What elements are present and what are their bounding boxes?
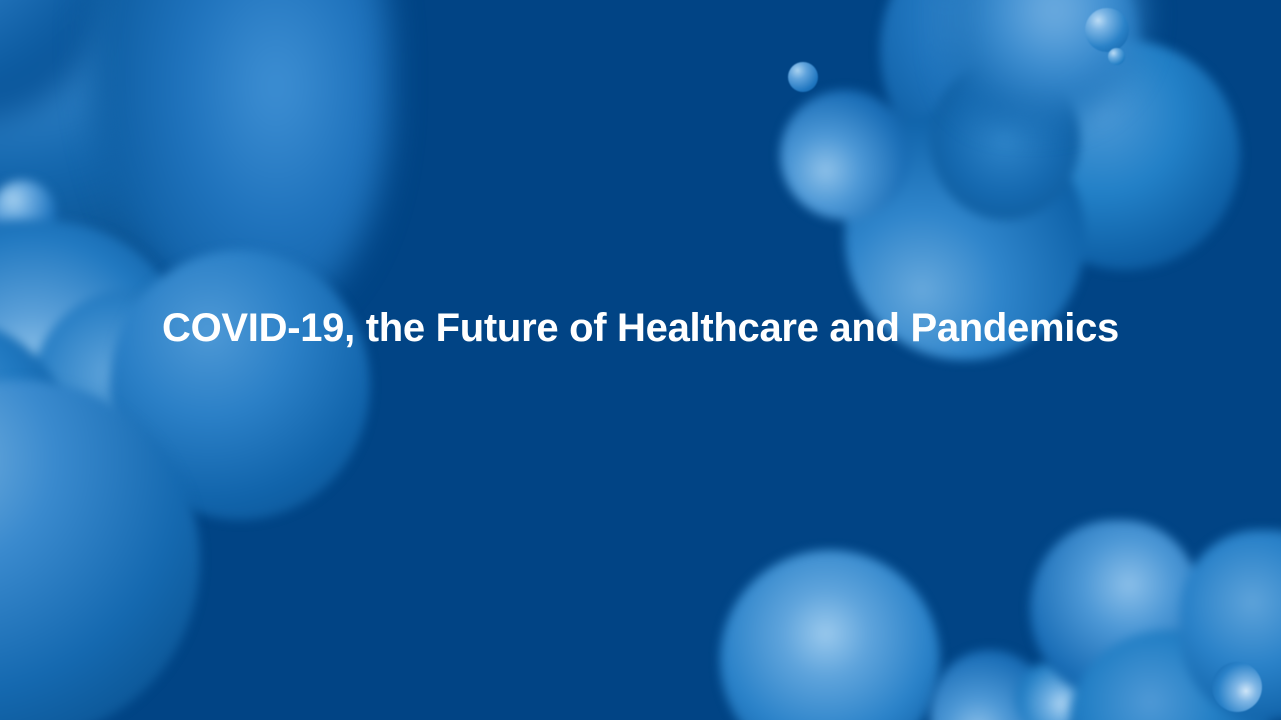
blob-shape	[880, 0, 1140, 190]
bubble	[1015, 662, 1087, 720]
blob-shape	[110, 250, 370, 520]
blob-shape	[0, 320, 70, 560]
blob-cluster-bottom-right	[700, 540, 980, 720]
blob-shape	[1030, 520, 1200, 700]
blob-cluster-right-edge	[1010, 500, 1281, 720]
bubble	[1085, 8, 1129, 52]
blob-shape	[780, 90, 910, 220]
blob-cluster-top-left	[0, 0, 400, 280]
blob-shape	[1180, 530, 1281, 720]
slide-title: COVID-19, the Future of Healthcare and P…	[0, 305, 1281, 351]
blob-cluster-bottom-right-pear	[920, 630, 1140, 720]
blob-shape	[930, 650, 1050, 720]
blob-shape	[0, 0, 300, 260]
blob-shape	[720, 550, 940, 720]
blob-shape	[950, 0, 1140, 120]
blob-shape	[930, 60, 1080, 220]
decorative-blob-layer	[0, 0, 1281, 720]
blob-cluster-top-right-highlight	[930, 0, 1160, 160]
bubble	[0, 180, 56, 246]
bubble	[1212, 662, 1262, 712]
blob-shape	[0, 220, 190, 520]
bubble	[1108, 48, 1125, 65]
blob-cluster-left-round	[100, 240, 400, 540]
blob-cluster-left	[0, 170, 390, 570]
blob-shape	[1010, 40, 1240, 270]
blob-shape	[0, 380, 200, 720]
title-slide: COVID-19, the Future of Healthcare and P…	[0, 0, 1281, 720]
blob-shape	[90, 0, 390, 320]
blob-shape	[1070, 630, 1270, 720]
blob-cluster-bottom-left	[0, 360, 240, 720]
bubble	[788, 62, 818, 92]
blob-shape	[0, 0, 120, 120]
